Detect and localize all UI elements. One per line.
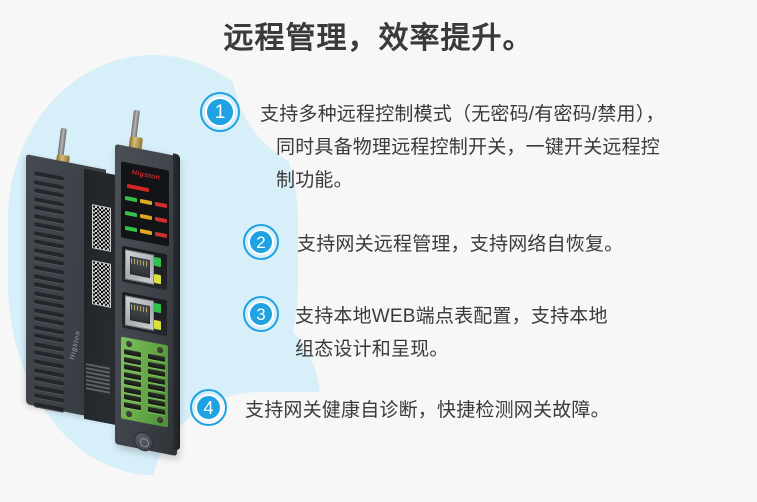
feature-badge-2-number: 2	[248, 229, 274, 255]
feature-badge-1-number: 1	[205, 97, 235, 127]
feature-text-1-line-1: 支持多种远程控制模式（无密码/有密码/禁用），	[260, 104, 665, 125]
feature-text-1: 支持多种远程控制模式（无密码/有密码/禁用）， 同时具备物理远程控制开关，一键开…	[260, 98, 745, 197]
feature-badge-4-number: 4	[195, 394, 222, 421]
page-title: 远程管理，效率提升。	[0, 13, 757, 57]
feature-text-3-line-2: 组态设计和呈现。	[295, 333, 713, 366]
marketing-banner: Higston Higston	[0, 0, 757, 487]
feature-text-2: 支持网关远程管理，支持网络自恢复。	[297, 228, 623, 261]
feature-item-3: 3 支持本地WEB端点表配置，支持本地 组态设计和呈现。	[243, 300, 713, 366]
feature-list: 1 支持多种远程控制模式（无密码/有密码/禁用）， 同时具备物理远程控制开关，一…	[0, 0, 757, 487]
feature-badge-3: 3	[243, 296, 279, 332]
feature-item-2: 2 支持网关远程管理，支持网络自恢复。	[243, 228, 713, 261]
feature-badge-2: 2	[243, 224, 279, 260]
feature-badge-1: 1	[200, 92, 240, 132]
feature-badge-4: 4	[190, 389, 227, 426]
feature-text-1-line-2: 同时具备物理远程控制开关，一键开关远程控	[260, 131, 745, 164]
feature-item-1: 1 支持多种远程控制模式（无密码/有密码/禁用）， 同时具备物理远程控制开关，一…	[200, 98, 745, 197]
feature-text-4-line-1: 支持网关健康自诊断，快捷检测网关故障。	[245, 400, 610, 421]
feature-text-1-line-3: 制功能。	[260, 164, 745, 197]
feature-text-4: 支持网关健康自诊断，快捷检测网关故障。	[245, 394, 610, 427]
feature-text-2-line-1: 支持网关远程管理，支持网络自恢复。	[297, 234, 623, 255]
feature-badge-3-number: 3	[248, 301, 274, 327]
feature-text-3: 支持本地WEB端点表配置，支持本地 组态设计和呈现。	[295, 300, 713, 366]
feature-item-4: 4 支持网关健康自诊断，快捷检测网关故障。	[190, 394, 690, 427]
feature-text-3-line-1: 支持本地WEB端点表配置，支持本地	[295, 306, 608, 327]
